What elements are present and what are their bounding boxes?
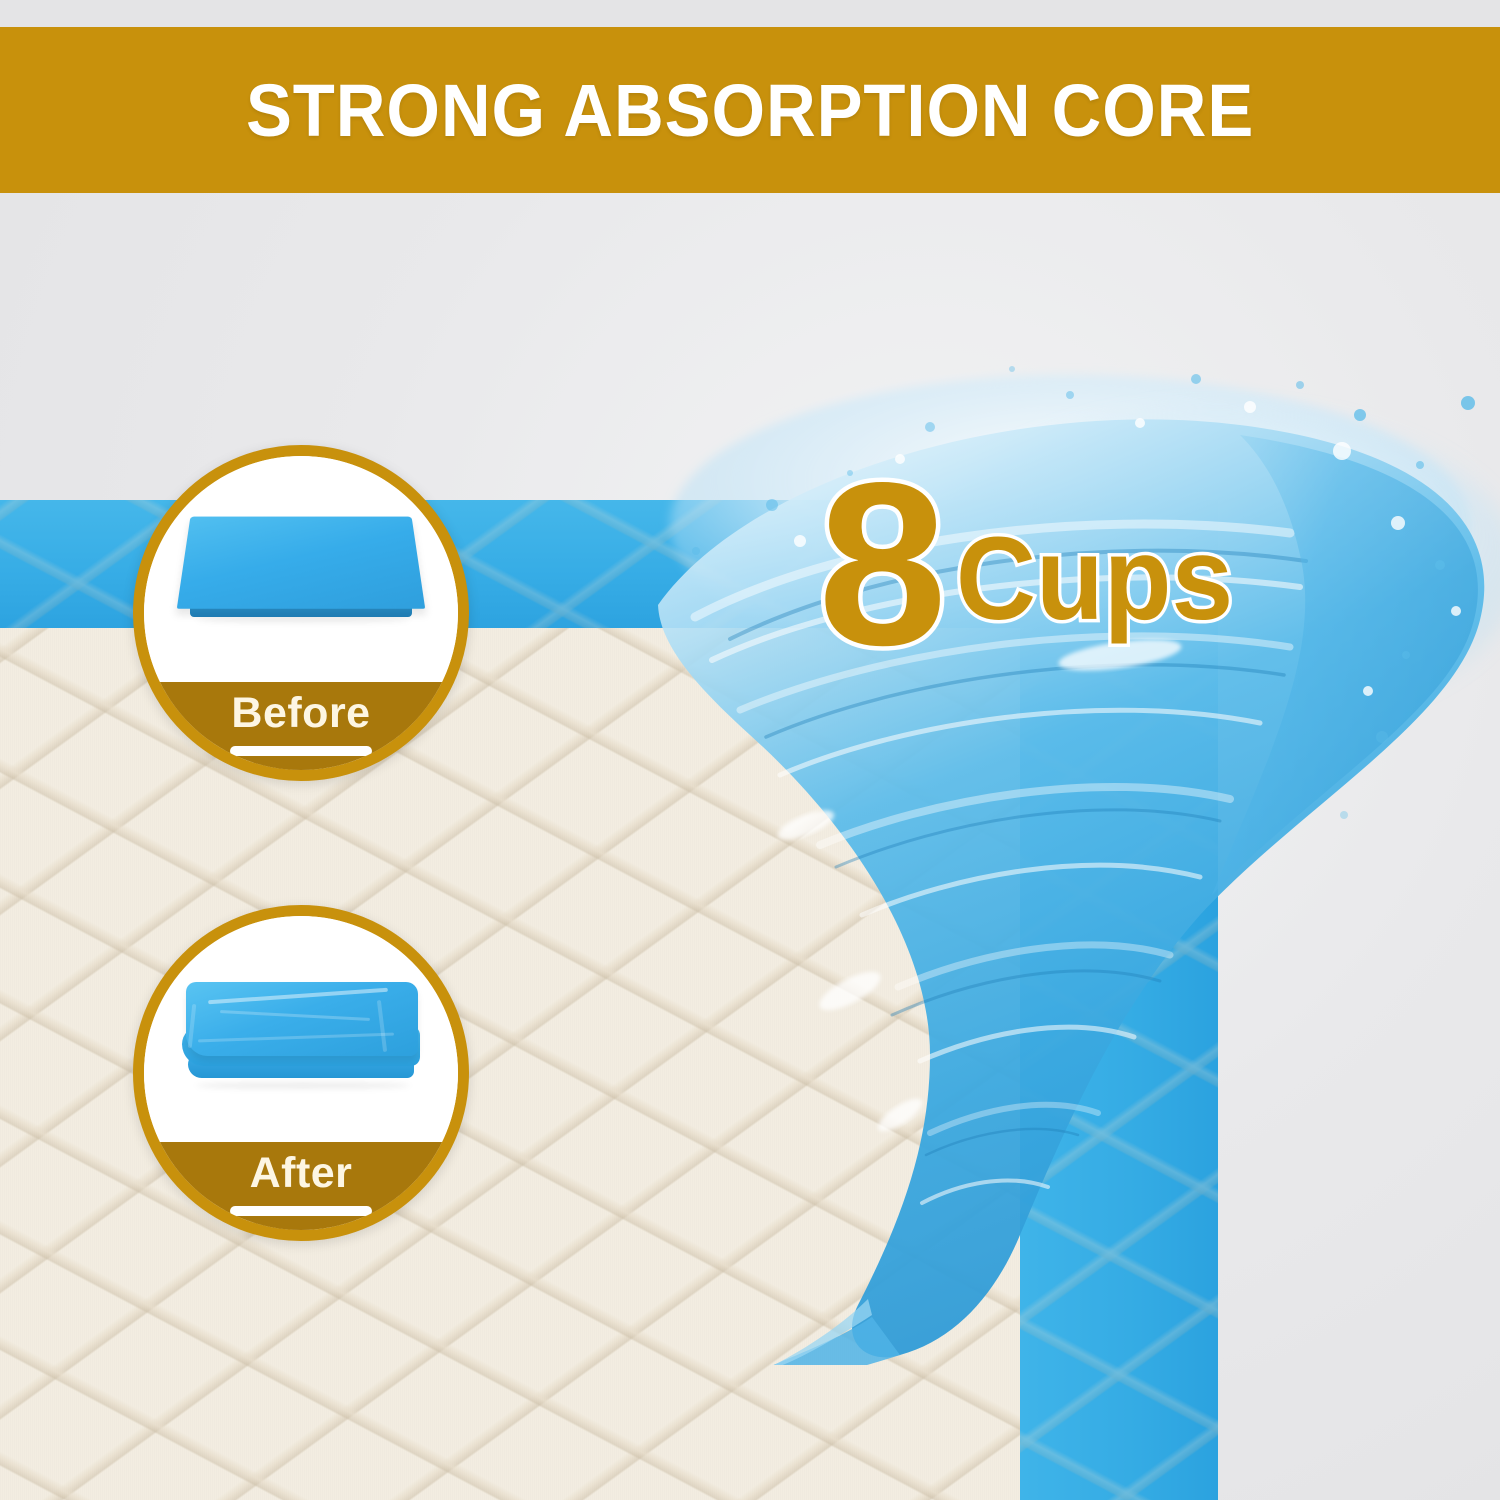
header-banner: STRONG ABSORPTION CORE <box>0 27 1500 193</box>
badge-before-label: Before <box>231 692 370 735</box>
product-feature-image: STRONG ABSORPTION CORE <box>0 0 1500 1500</box>
pad-binding-right <box>1020 500 1218 1500</box>
badge-before[interactable]: Before <box>133 445 469 781</box>
badge-before-underline <box>230 746 372 756</box>
pad-binding-corner <box>1020 500 1046 628</box>
badge-after-underline <box>230 1206 372 1216</box>
page-title: STRONG ABSORPTION CORE <box>246 68 1254 153</box>
badge-before-band: Before <box>144 682 458 770</box>
crumpled-saturated-pad-icon <box>176 964 426 1094</box>
badge-after-label: After <box>250 1152 353 1195</box>
scene-top-strip <box>0 0 1500 30</box>
badge-after-photo <box>144 916 458 1142</box>
flat-folded-pad-icon <box>176 504 426 634</box>
badge-after[interactable]: After <box>133 905 469 1241</box>
badge-before-photo <box>144 456 458 682</box>
badge-after-band: After <box>144 1142 458 1230</box>
binding-quilt-pattern-right <box>1020 500 1218 1500</box>
